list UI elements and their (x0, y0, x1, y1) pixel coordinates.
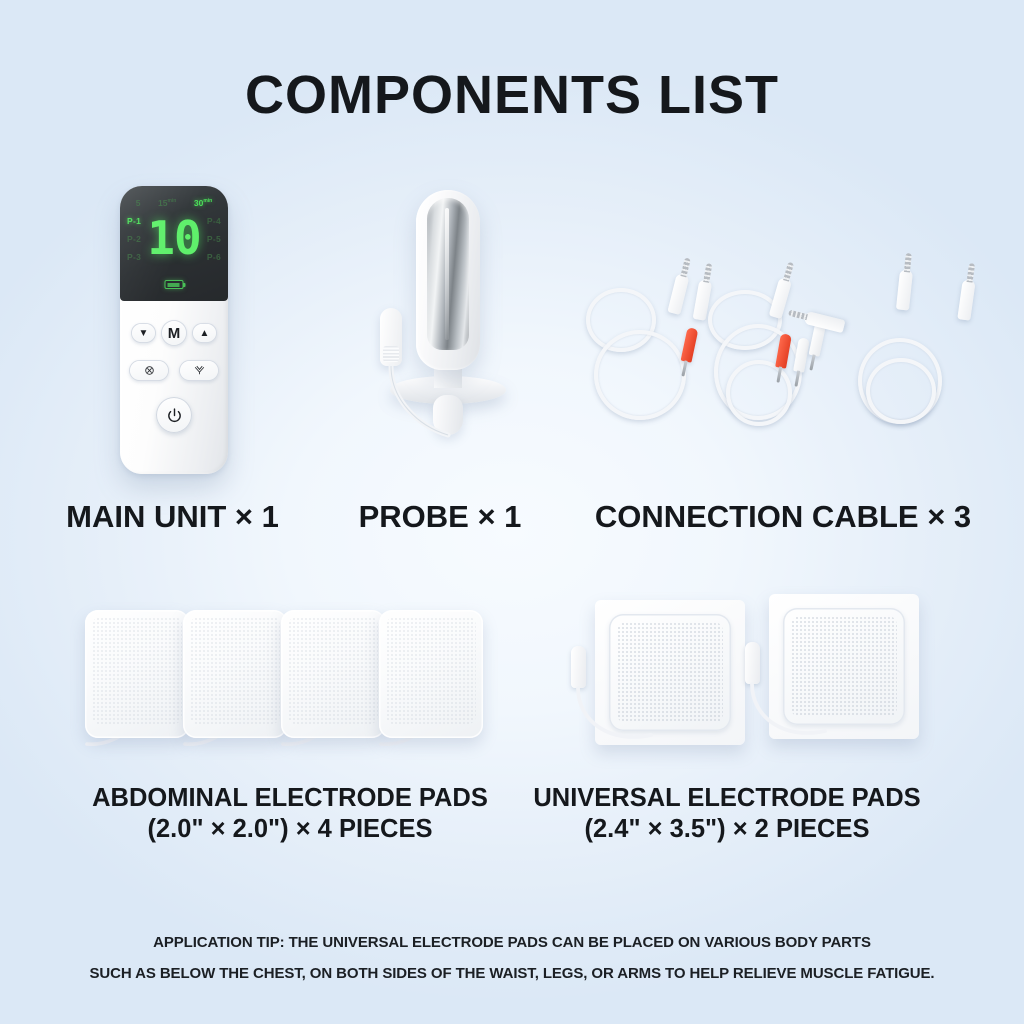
caption-abdominal-pads: ABDOMINAL ELECTRODE PADS (2.0" × 2.0") ×… (30, 783, 550, 845)
intensity-down-button[interactable]: ▼ (131, 323, 156, 343)
application-tip: APPLICATION TIP: THE UNIVERSAL ELECTRODE… (0, 928, 1024, 990)
lcd-screen: 5 15min 30min P-1 P-2 P-3 P-4 P-5 P-6 10 (120, 186, 228, 301)
timer-15: 15min (158, 198, 176, 208)
timer-indicators: 5 15min 30min (120, 198, 228, 208)
program-p1: P-1 (127, 216, 141, 226)
caption-connection-cable: CONNECTION CABLE × 3 (548, 498, 1018, 536)
caption-main-unit: MAIN UNIT × 1 (0, 498, 345, 536)
intensity-up-button[interactable]: ▲ (192, 323, 217, 343)
mode-button[interactable]: M (161, 320, 187, 346)
caption-universal-pads-line2: (2.4" × 3.5") × 2 PIECES (492, 814, 962, 845)
cable-2-pin-white-a (793, 337, 810, 372)
caption-abdominal-pads-line2: (2.0" × 2.0") × 4 PIECES (30, 814, 550, 845)
cable-3-jack-b (896, 269, 913, 310)
universal-pad-wires (565, 592, 935, 767)
caption-probe: PROBE × 1 (330, 498, 550, 536)
abdominal-pad-1 (85, 610, 189, 738)
probe-cable (378, 190, 518, 440)
product-main-unit: 5 15min 30min P-1 P-2 P-3 P-4 P-5 P-6 10… (120, 186, 228, 474)
abdominal-pad-4 (379, 610, 483, 738)
cable-2-pin-red-a (681, 327, 699, 363)
intensity-value: 10 (120, 211, 228, 265)
control-panel: ▼ M ▲ (120, 304, 228, 433)
product-abdominal-pads (85, 610, 495, 760)
program-p3: P-3 (127, 252, 141, 262)
application-tip-line1: APPLICATION TIP: THE UNIVERSAL ELECTRODE… (0, 928, 1024, 959)
program-list-left: P-1 P-2 P-3 (127, 216, 141, 262)
battery-icon (165, 280, 184, 289)
product-connection-cables (580, 250, 990, 450)
application-tip-line2: SUCH AS BELOW THE CHEST, ON BOTH SIDES O… (0, 959, 1024, 990)
timer-30: 30min (194, 198, 212, 208)
caption-universal-pads: UNIVERSAL ELECTRODE PADS (2.4" × 3.5") ×… (492, 783, 962, 845)
massage-mode-icon[interactable] (129, 360, 169, 381)
caption-universal-pads-line1: UNIVERSAL ELECTRODE PADS (492, 783, 962, 814)
pulse-mode-icon[interactable] (179, 360, 219, 381)
page-title: COMPONENTS LIST (0, 64, 1024, 126)
product-universal-pads (565, 592, 935, 767)
product-probe (378, 190, 518, 440)
caption-abdominal-pads-line1: ABDOMINAL ELECTRODE PADS (30, 783, 550, 814)
cable-3-jack-c (957, 279, 975, 320)
cable-1-jack-a (667, 273, 689, 315)
abdominal-pad-2 (183, 610, 287, 738)
abdominal-pad-3 (281, 610, 385, 738)
power-button[interactable] (156, 397, 192, 433)
timer-5: 5 (136, 198, 141, 208)
program-p2: P-2 (127, 234, 141, 244)
